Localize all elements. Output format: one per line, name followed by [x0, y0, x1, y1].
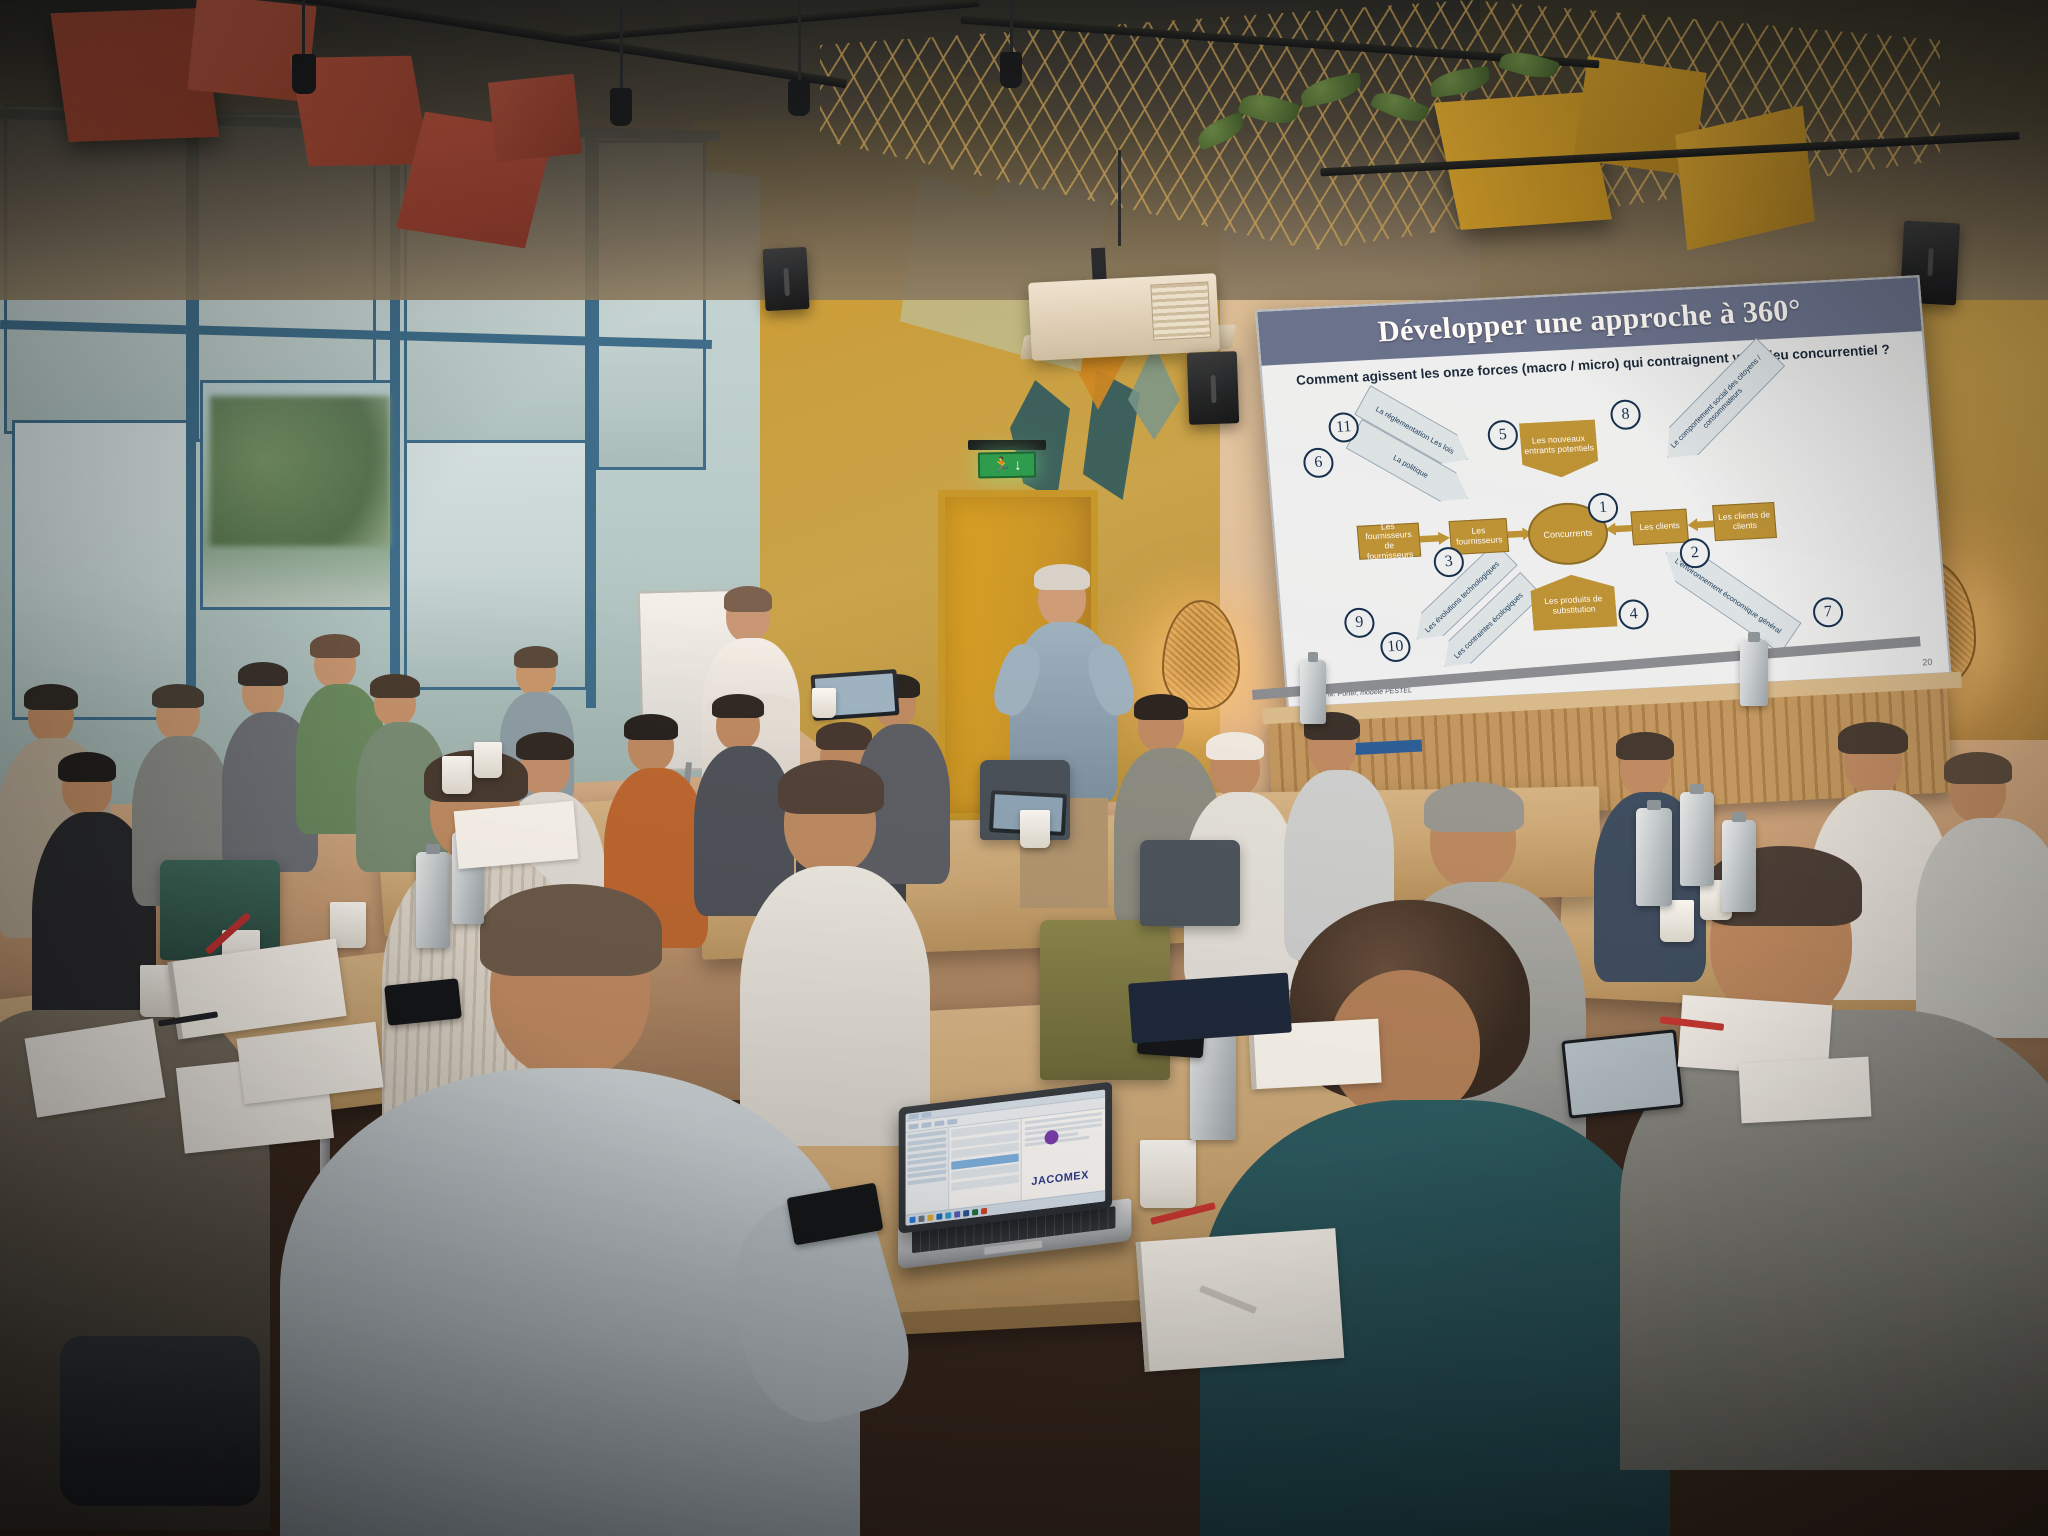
force-arrow-7: L'environnement économique général: [1655, 537, 1801, 654]
ceiling-spotlight: [788, 80, 810, 116]
hair: [624, 714, 678, 740]
force-box-5: Les nouveaux entrants potentiels: [1519, 420, 1599, 480]
force-label-5: Les nouveaux entrants potentiels: [1520, 434, 1597, 457]
teams-icon[interactable]: [954, 1211, 960, 1218]
supplier-of-suppliers-box: Les fournisseurs de fournisseurs: [1357, 523, 1422, 560]
water-bottle[interactable]: [1722, 820, 1756, 912]
search-icon[interactable]: [919, 1215, 925, 1222]
laptop-screen: JACOMEX: [906, 1089, 1106, 1225]
supplier-of-suppliers-label: Les fournisseurs de fournisseurs: [1359, 520, 1418, 562]
powerpoint-icon[interactable]: [981, 1208, 987, 1215]
hair: [514, 646, 558, 668]
force-box-2: Les clients: [1630, 509, 1689, 546]
slide-title: Développer une approche à 360°: [1377, 293, 1803, 349]
ribbon-button[interactable]: [934, 1120, 944, 1126]
hair: [24, 684, 78, 710]
backpack: [60, 1336, 260, 1506]
hair: [1838, 722, 1908, 754]
hair: [152, 684, 204, 708]
ceiling-spotlight: [610, 88, 632, 126]
explorer-icon[interactable]: [927, 1214, 933, 1221]
force-badge-7: 7: [1812, 597, 1844, 628]
tablet-screen: [1565, 1033, 1681, 1116]
start-icon[interactable]: [910, 1217, 916, 1224]
hair: [238, 662, 288, 686]
emergency-exit-sign: 🏃 ↓: [978, 451, 1036, 478]
torso: [740, 866, 930, 1146]
hair: [778, 760, 884, 814]
water-bottle[interactable]: [416, 852, 450, 948]
window-pane: [404, 440, 588, 690]
down-arrow-icon: ↓: [1014, 457, 1022, 472]
force-label-4: Les produits de substitution: [1531, 594, 1616, 618]
hair: [310, 634, 360, 658]
force-box-4: Les produits de substitution: [1529, 573, 1617, 631]
hair: [480, 884, 662, 976]
porter-forces-diagram: La réglementation Les lois 11 La politiq…: [1264, 360, 1948, 684]
hair: [712, 694, 764, 718]
light-rod: [1118, 150, 1121, 246]
mail-icon[interactable]: [936, 1213, 942, 1220]
laptop-lid: JACOMEX: [899, 1082, 1112, 1234]
hair: [724, 586, 772, 612]
ribbon-button[interactable]: [909, 1123, 919, 1129]
company-logo: JACOMEX: [1031, 1169, 1088, 1188]
window-pane: [12, 420, 192, 720]
window-control-icon[interactable]: [909, 1113, 919, 1119]
hair: [1616, 732, 1674, 760]
paper-cup[interactable]: [474, 742, 502, 778]
browser-icon[interactable]: [945, 1212, 951, 1219]
projector-vent-grille: [1150, 282, 1211, 341]
force-badge-6: 6: [1302, 447, 1334, 478]
word-icon[interactable]: [963, 1210, 969, 1217]
hair: [370, 674, 420, 698]
smartphone[interactable]: [384, 978, 462, 1026]
paper-cup[interactable]: [1140, 1140, 1196, 1208]
force-badge-9: 9: [1343, 607, 1375, 638]
arrow-suppliers-1: [1419, 531, 1450, 546]
ceiling-spotlight: [1000, 52, 1022, 88]
water-bottle[interactable]: [1300, 660, 1326, 724]
paper-cup[interactable]: [442, 756, 472, 794]
arrow-clients-1: [1605, 522, 1632, 536]
hair: [1134, 694, 1188, 720]
hair: [1944, 752, 2012, 784]
light-rod: [798, 0, 801, 84]
conference-room-photo: 🏃 ↓ Développer une approche à 360° Comme…: [0, 0, 2048, 1536]
running-figure-icon: 🏃: [992, 457, 1011, 472]
arrow-clients-2: [1687, 517, 1714, 531]
light-rod: [1010, 0, 1013, 56]
laptop[interactable]: JACOMEX: [881, 1081, 1134, 1268]
clients-of-clients-box: Les clients de clients: [1712, 502, 1777, 541]
force-label-2: Les clients: [1639, 521, 1680, 533]
exit-sign-bracket: [968, 440, 1046, 450]
tablet[interactable]: [1561, 1029, 1684, 1119]
force-label-1: Concurrents: [1543, 528, 1593, 541]
ceiling-spotlight: [292, 54, 316, 94]
wall-speaker: [1187, 351, 1239, 425]
force-badge-4: 4: [1617, 599, 1649, 630]
paper-cup[interactable]: [1020, 810, 1050, 848]
water-bottle[interactable]: [1636, 808, 1672, 906]
hanging-cube: [488, 74, 582, 163]
folder[interactable]: [1128, 972, 1292, 1043]
paper-cup[interactable]: [812, 688, 836, 718]
light-rod: [620, 0, 623, 92]
window-control-icon[interactable]: [921, 1112, 931, 1118]
window-foliage: [210, 396, 390, 546]
slide-page-number: 20: [1922, 657, 1933, 667]
ribbon-button[interactable]: [921, 1121, 931, 1127]
chair[interactable]: [1140, 840, 1240, 926]
force-label-3: Les fournisseurs: [1452, 526, 1506, 548]
hair: [516, 732, 574, 760]
force-badge-8: 8: [1609, 399, 1641, 430]
force-badge-5: 5: [1487, 420, 1519, 451]
ceiling-projector: [1028, 273, 1220, 361]
water-bottle[interactable]: [1680, 792, 1714, 886]
wall-speaker: [762, 247, 809, 311]
hair: [1424, 782, 1524, 832]
hair: [58, 752, 116, 782]
paper-sheet[interactable]: [1739, 1057, 1872, 1124]
hair: [1034, 564, 1090, 590]
water-bottle[interactable]: [1740, 640, 1768, 706]
hair: [816, 722, 872, 750]
paper-cup[interactable]: [1660, 900, 1694, 942]
ribbon-button[interactable]: [947, 1118, 957, 1124]
force-badge-10: 10: [1379, 631, 1411, 662]
torso: [1916, 818, 2048, 1038]
clients-of-clients-label: Les clients de clients: [1716, 511, 1774, 533]
paper-sheet[interactable]: [454, 801, 579, 869]
light-rod: [302, 0, 305, 58]
excel-icon[interactable]: [972, 1209, 978, 1216]
hair: [1206, 732, 1264, 760]
